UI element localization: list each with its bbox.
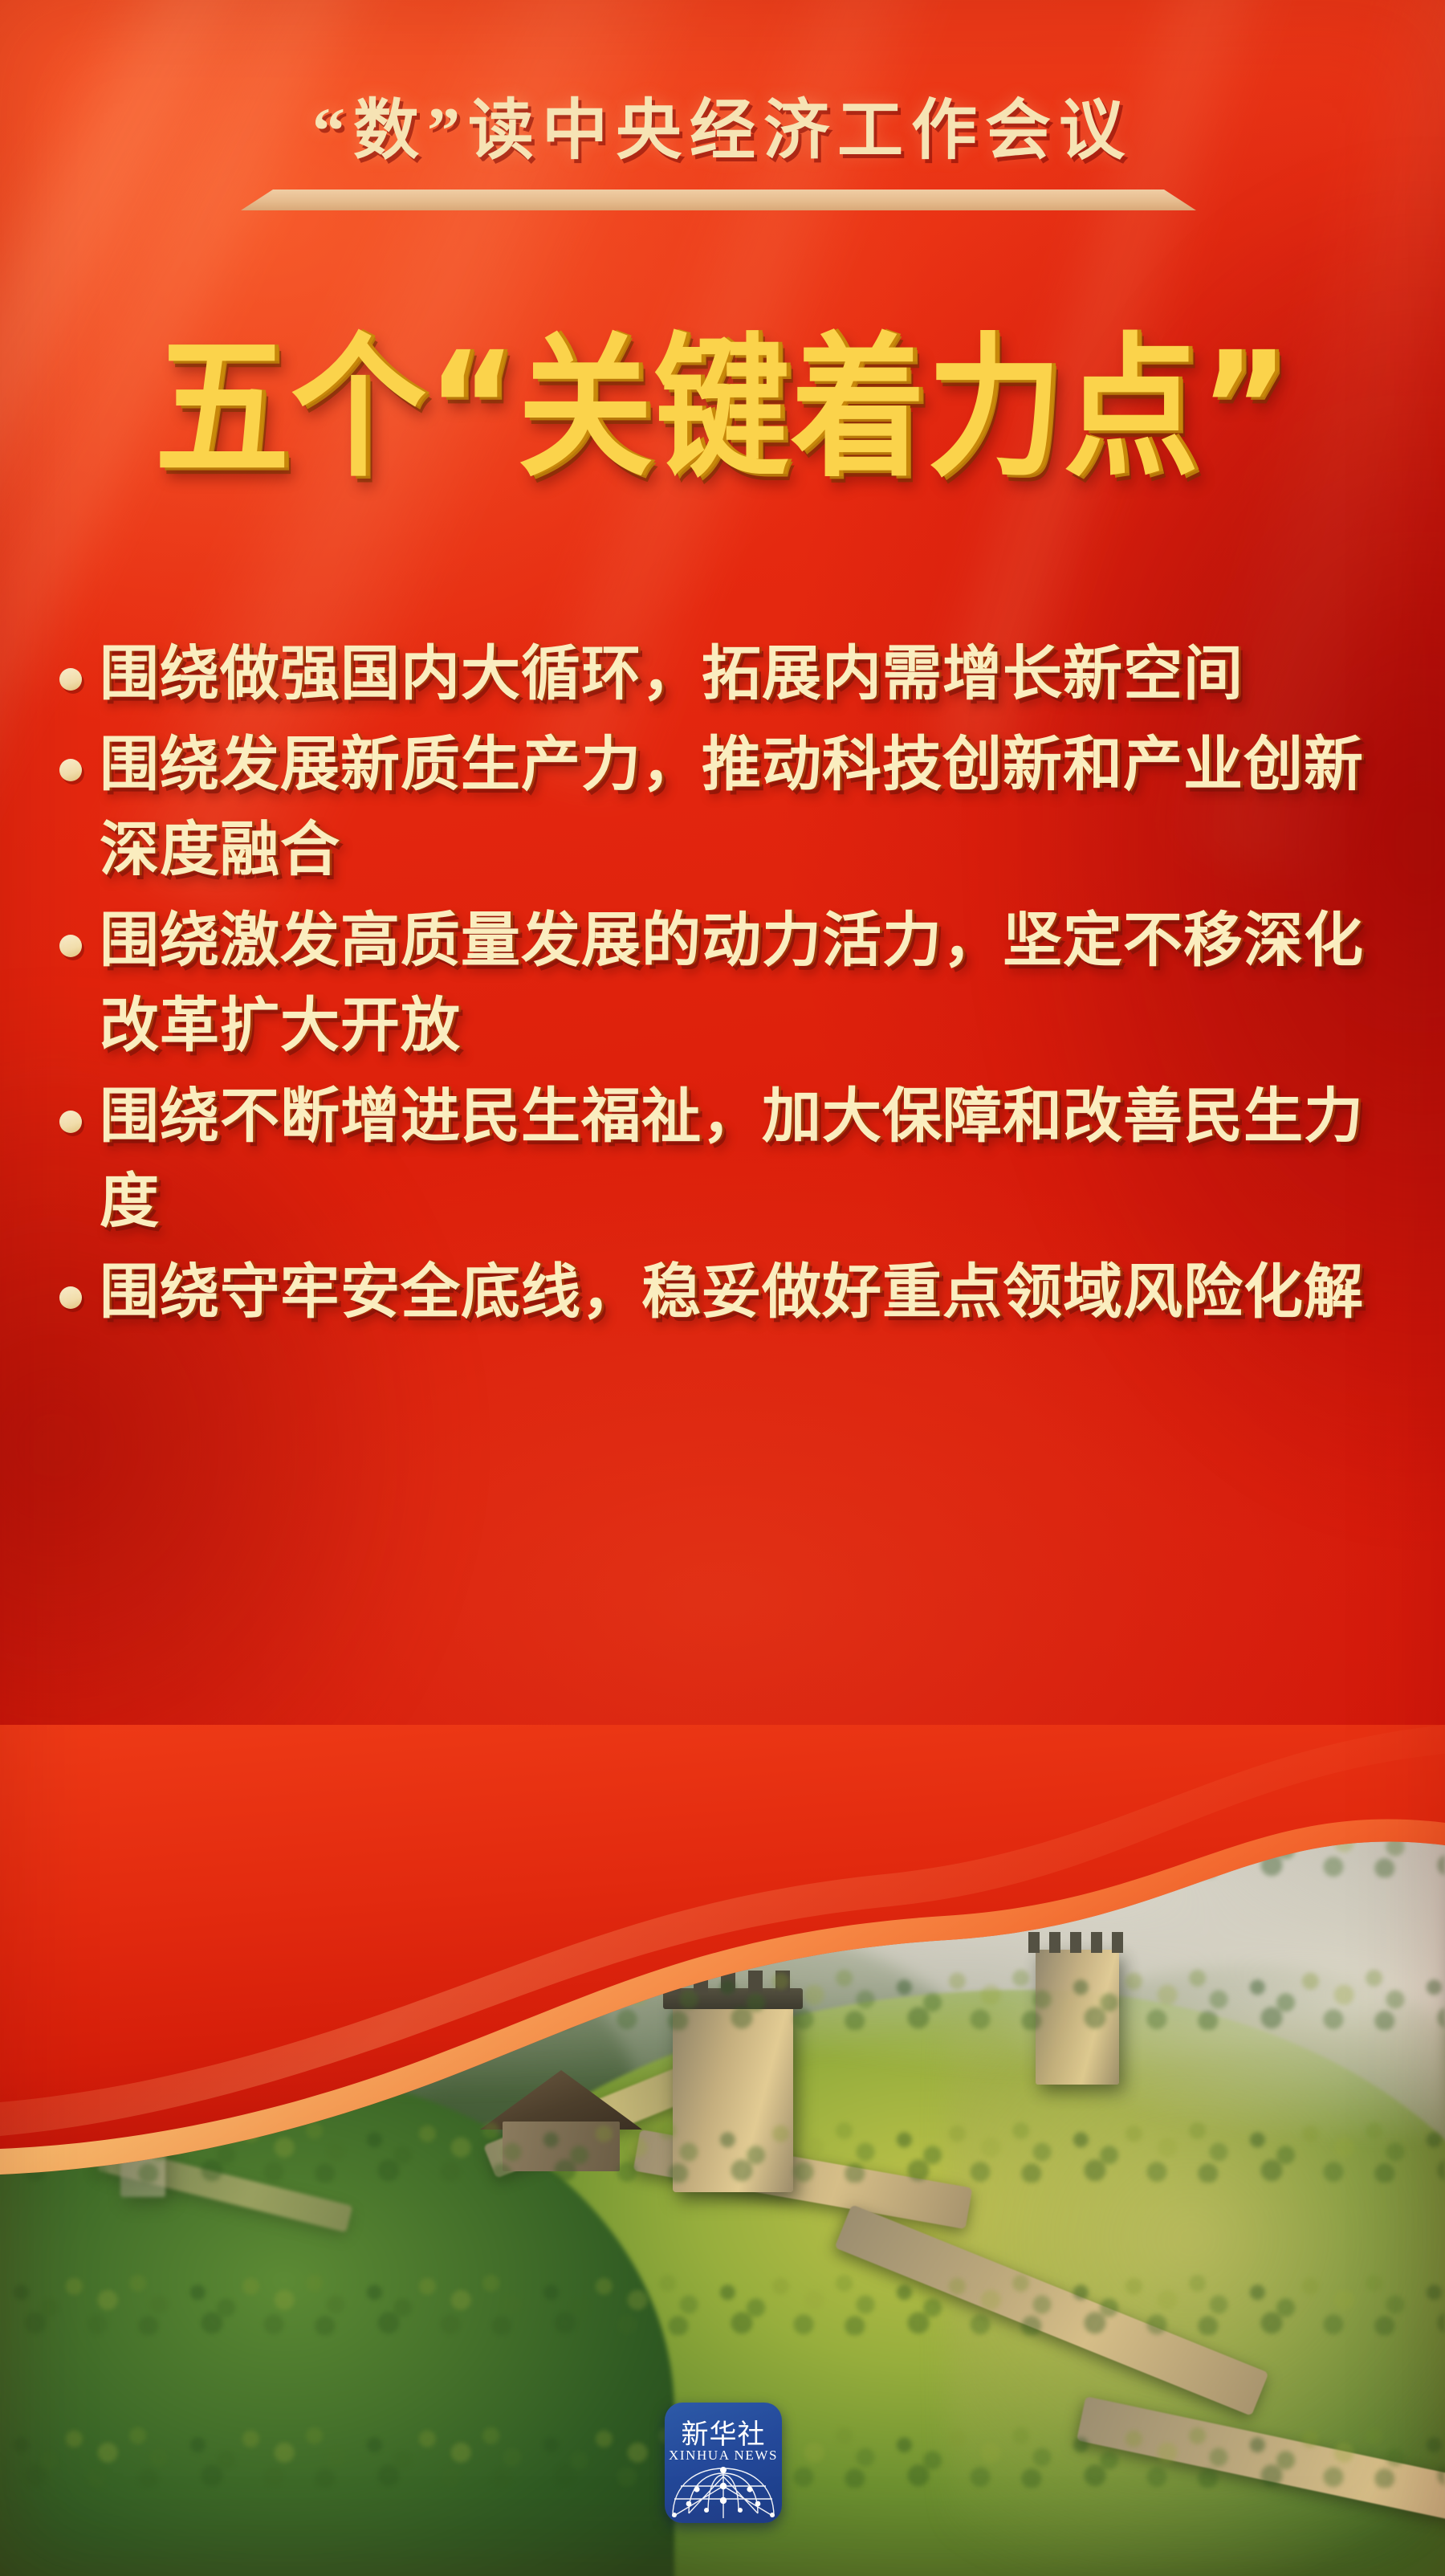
header-title: “数”读中央经济工作会议 [312,76,1133,172]
bullet-dot-icon [59,759,82,781]
header: “数”读中央经济工作会议 [0,76,1445,172]
key-points-list: 围绕做强国内大循环，拓展内需增长新空间 围绕发展新质生产力，推动科技创新和产业创… [45,631,1410,1339]
list-item-label: 围绕激发高质量发展的动力活力，坚定不移深化改革扩大开放 [100,898,1410,1069]
poster-root: “数”读中央经济工作会议 五个“关键着力点” 围绕做强国内大循环，拓展内需增长新… [0,0,1445,2576]
header-divider-bar [241,190,1196,210]
list-item: 围绕激发高质量发展的动力活力，坚定不移深化改革扩大开放 [45,898,1410,1069]
logo-english-text: XINHUA NEWS [665,2448,782,2464]
bullet-dot-icon [59,1111,82,1133]
main-title: 五个“关键着力点” [0,328,1445,469]
list-item: 围绕不断增进民生福祉，加大保障和改善民生力度 [45,1074,1410,1245]
main-title-text: 五个“关键着力点” [155,328,1291,489]
bullet-dot-icon [59,935,82,957]
list-item-label: 围绕守牢安全底线，稳妥做好重点领域风险化解 [100,1249,1410,1335]
list-item: 围绕发展新质生产力，推动科技创新和产业创新深度融合 [45,722,1410,893]
list-item-label: 围绕做强国内大循环，拓展内需增长新空间 [100,631,1410,717]
list-item-label: 围绕发展新质生产力，推动科技创新和产业创新深度融合 [100,722,1410,893]
list-item-label: 围绕不断增进民生福祉，加大保障和改善民生力度 [100,1074,1410,1245]
bullet-dot-icon [59,668,82,691]
list-item: 围绕守牢安全底线，稳妥做好重点领域风险化解 [45,1249,1410,1335]
logo-chinese-text: 新华社 [665,2412,782,2452]
red-silk-ribbon-overlay [0,1725,1445,2175]
list-item: 围绕做强国内大循环，拓展内需增长新空间 [45,631,1410,717]
xinhua-news-logo: 新华社 XINHUA NEWS [665,2403,782,2523]
network-globe-icon [670,2465,777,2520]
bullet-dot-icon [59,1286,82,1309]
